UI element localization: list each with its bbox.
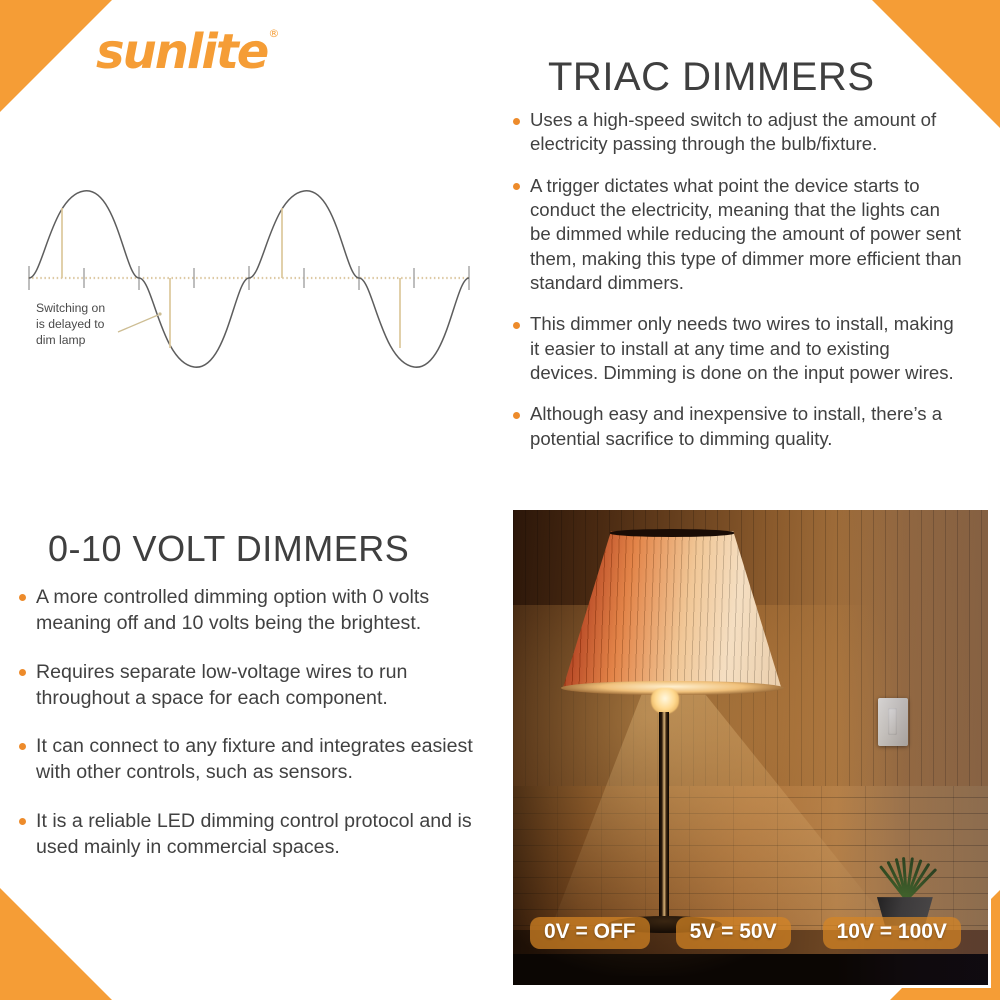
list-item: It is a reliable LED dimming control pro… [17, 808, 500, 861]
list-item-text: It can connect to any fixture and integr… [36, 735, 473, 783]
bullet-dot-icon [513, 118, 520, 125]
list-item-text: A more controlled dimming option with 0 … [36, 586, 429, 634]
waveform-annotation-leader [118, 312, 162, 332]
lamp-stem [659, 712, 669, 921]
bullet-dot-icon [19, 594, 26, 601]
waveform-annotation-line-1: Switching on [36, 300, 105, 316]
corner-decoration-bottom-left [0, 888, 112, 1000]
volt-dimmers-bullet-list: A more controlled dimming option with 0 … [17, 584, 500, 882]
list-item-text: Requires separate low-voltage wires to r… [36, 661, 407, 709]
list-item: Although easy and inexpensive to install… [511, 402, 963, 451]
bullet-dot-icon [513, 412, 520, 419]
waveform-annotation-line-3: dim lamp [36, 332, 105, 348]
list-item: A trigger dictates what point the device… [511, 174, 963, 296]
brand-logo: sunlite® [96, 28, 276, 76]
triac-dimmers-title: TRIAC DIMMERS [548, 55, 875, 100]
list-item-text: It is a reliable LED dimming control pro… [36, 810, 472, 858]
potted-plant-leaves [874, 857, 936, 900]
waveform-annotation-line-2: is delayed to [36, 316, 105, 332]
volt-dimmers-title: 0-10 VOLT DIMMERS [48, 528, 409, 570]
bullet-dot-icon [513, 183, 520, 190]
list-item: Uses a high-speed switch to adjust the a… [511, 108, 963, 157]
table-front-edge [513, 954, 988, 985]
bullet-dot-icon [513, 322, 520, 329]
brand-logo-text: sunlite [96, 24, 267, 80]
lamp-shade-top-rim [610, 529, 734, 536]
bullet-dot-icon [19, 818, 26, 825]
list-item-text: This dimmer only needs two wires to inst… [530, 313, 954, 383]
triac-dimmers-bullet-list: Uses a high-speed switch to adjust the a… [511, 108, 963, 468]
dimming-demo-photo: 0V = OFF 5V = 50V 10V = 100V [513, 510, 988, 985]
list-item-text: Although easy and inexpensive to install… [530, 403, 942, 448]
waveform-annotation-label: Switching on is delayed to dim lamp [36, 300, 105, 349]
bullet-dot-icon [19, 669, 26, 676]
list-item: This dimmer only needs two wires to inst… [511, 312, 963, 385]
list-item: Requires separate low-voltage wires to r… [17, 659, 500, 712]
waveform-svg [10, 160, 490, 410]
dimmer-rocker-paddle[interactable] [888, 708, 897, 735]
list-item: A more controlled dimming option with 0 … [17, 584, 500, 637]
list-item-text: Uses a high-speed switch to adjust the a… [530, 109, 936, 154]
triac-waveform-diagram [10, 160, 490, 410]
wall-dimmer-switch[interactable] [878, 698, 908, 746]
list-item-text: A trigger dictates what point the device… [530, 175, 962, 293]
registered-trademark-icon: ® [268, 27, 277, 40]
table-surface [513, 930, 988, 954]
bullet-dot-icon [19, 743, 26, 750]
list-item: It can connect to any fixture and integr… [17, 733, 500, 786]
